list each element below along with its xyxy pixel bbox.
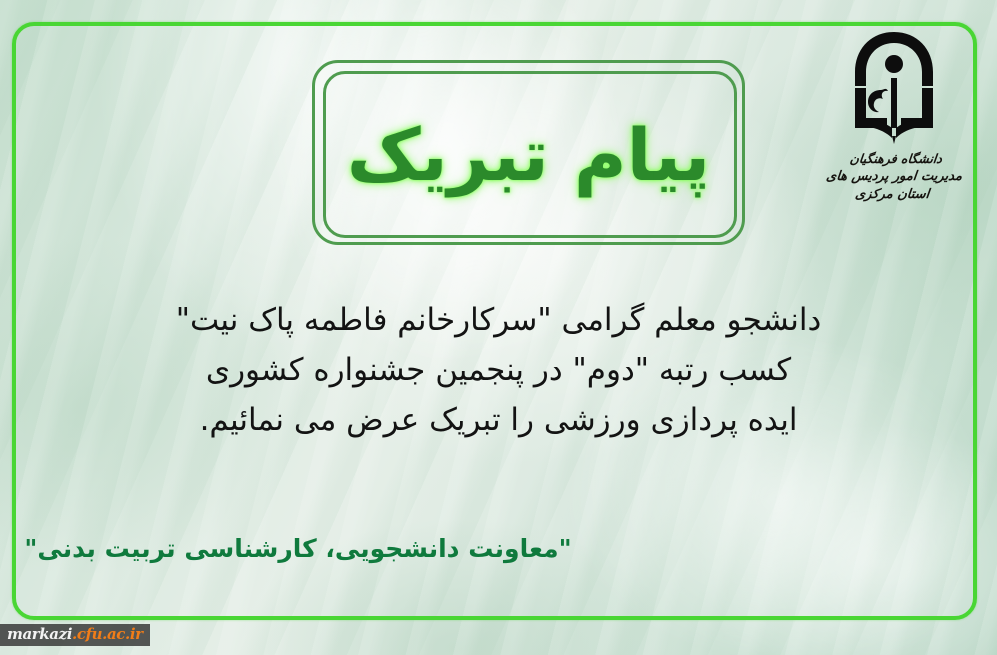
watermark-domain: .cfu.ac.ir xyxy=(72,625,143,643)
logo-caption: دانشگاه فرهنگیان مدیریت امور پردیس های ا… xyxy=(816,150,972,205)
site-watermark: markazi.cfu.ac.ir xyxy=(0,624,150,646)
logo-caption-line-1: دانشگاه فرهنگیان xyxy=(820,150,972,168)
message-line-1: دانشجو معلم گرامی "سرکارخانم فاطمه پاک ن… xyxy=(45,295,952,345)
watermark-name: markazi xyxy=(7,625,72,643)
message-line-3: ایده پردازی ورزشی را تبریک عرض می نمائیم… xyxy=(45,395,952,445)
signature-text: "معاونت دانشجویی، کارشناسی تربیت بدنی" xyxy=(18,534,578,563)
farhangian-university-logo-icon xyxy=(845,28,943,146)
message-body: دانشجو معلم گرامی "سرکارخانم فاطمه پاک ن… xyxy=(45,295,952,446)
logo-caption-line-3: استان مرکزی xyxy=(816,186,968,204)
page-title: پیام تبریک xyxy=(312,80,745,230)
university-logo-block: دانشگاه فرهنگیان مدیریت امور پردیس های ا… xyxy=(819,28,969,205)
congratulation-poster: پیام تبریک دانشگاه فرهنگیان مدیریت امور … xyxy=(0,0,997,655)
logo-caption-line-2: مدیریت امور پردیس های xyxy=(818,168,970,186)
message-line-2: کسب رتبه "دوم" در پنجمین جشنواره کشوری xyxy=(45,345,952,395)
